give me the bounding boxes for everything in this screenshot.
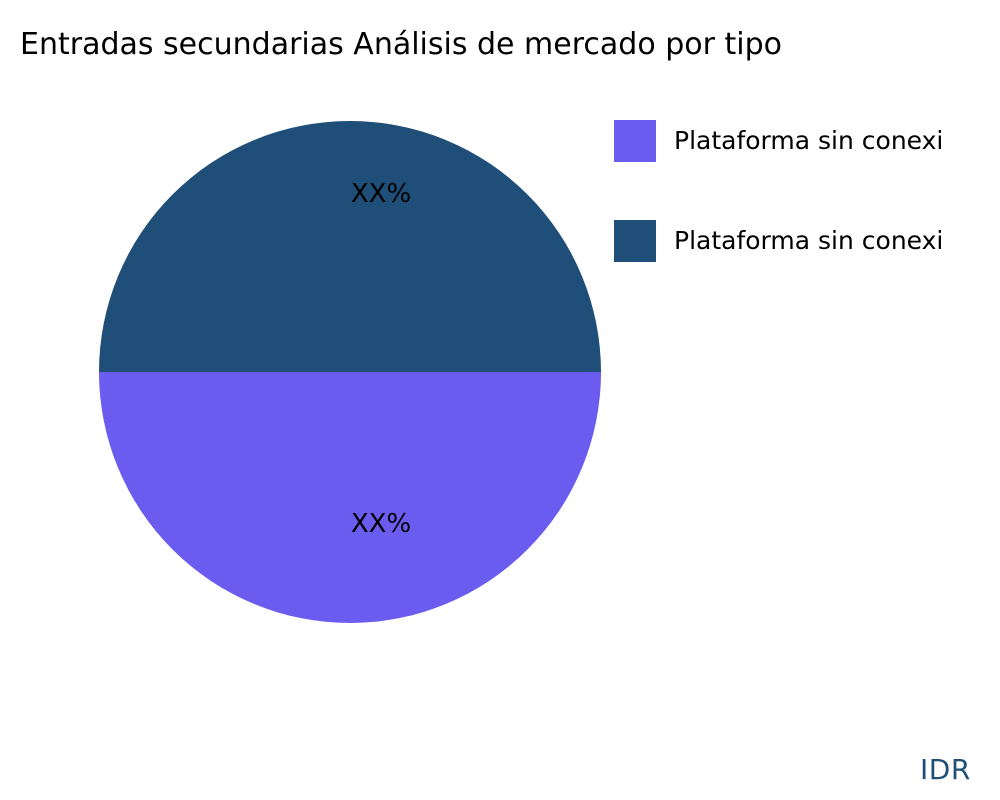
legend-color-swatch-1 (614, 220, 656, 262)
pie-svg (0, 0, 640, 800)
pie-slice-top[interactable] (99, 121, 601, 372)
chart-figure: Entradas secundarias Análisis de mercado… (0, 0, 1000, 800)
chart-legend: Plataforma sin conexi Plataforma sin con… (614, 110, 1000, 290)
pie-slice-bottom[interactable] (99, 372, 601, 623)
pie-slice-label-top: XX% (351, 179, 411, 209)
legend-label-1: Plataforma sin conexi (674, 220, 943, 262)
pie-slice-label-bottom: XX% (351, 509, 411, 539)
pie-plot-area: XX% XX% (0, 0, 640, 800)
legend-label-0: Plataforma sin conexi (674, 120, 943, 162)
legend-color-swatch-0 (614, 120, 656, 162)
watermark-idr: IDR (920, 753, 971, 786)
